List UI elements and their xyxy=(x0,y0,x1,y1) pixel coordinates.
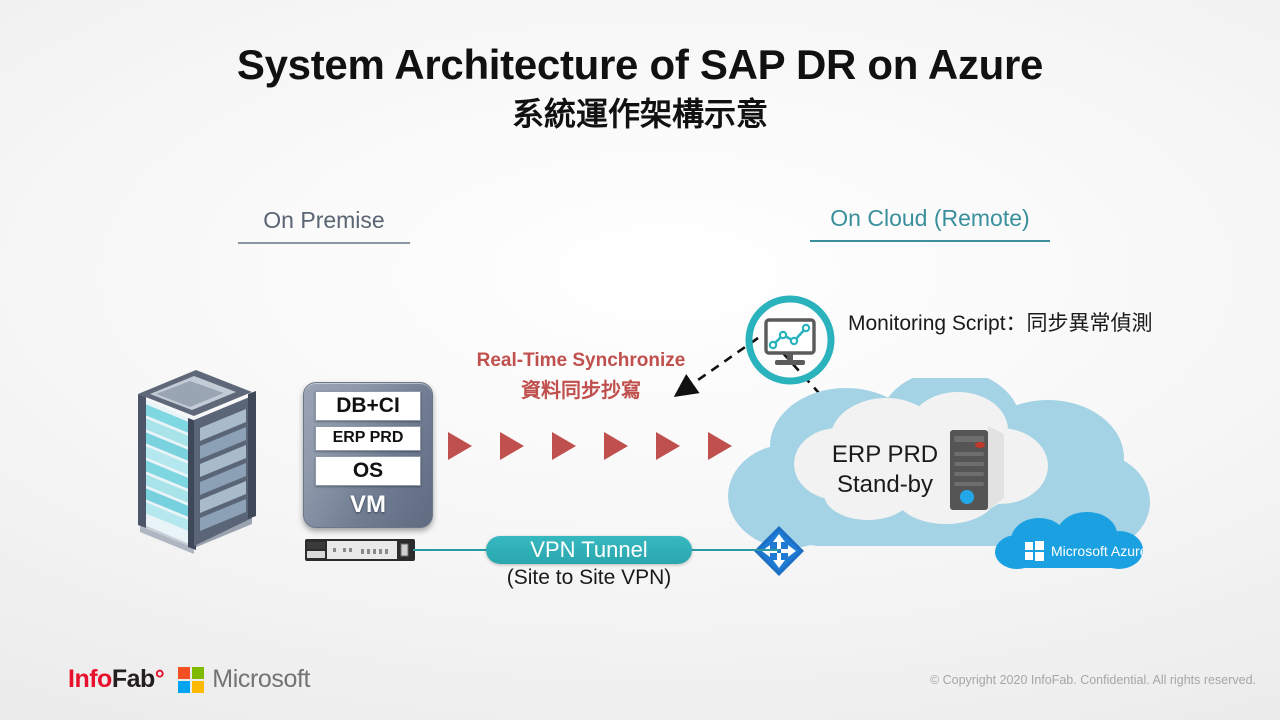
infofab-logo-dot: ° xyxy=(155,665,165,693)
monitoring-chart-icon xyxy=(742,292,838,388)
sync-arrow-triangle xyxy=(500,432,524,460)
copyright-text: © Copyright 2020 InfoFab. Confidential. … xyxy=(930,673,1256,687)
sync-arrow-triangle xyxy=(448,432,472,460)
infofab-logo-fab: Fab xyxy=(112,665,155,693)
infofab-logo-info: Info xyxy=(68,665,112,693)
page-subtitle: 系統運作架構示意 xyxy=(0,92,1280,136)
vpn-tunnel-bar: VPN Tunnel xyxy=(486,536,692,564)
microsoft-logo-icon xyxy=(178,667,204,693)
vm-box: DB+CI ERP PRD OS VM xyxy=(303,382,433,528)
network-gateway-icon xyxy=(752,524,806,578)
section-header-on-cloud: On Cloud (Remote) xyxy=(810,203,1050,242)
vm-layer-os: OS xyxy=(315,456,421,486)
infofab-logo: InfoFab° xyxy=(68,665,164,694)
section-header-on-premise: On Premise xyxy=(238,205,410,244)
vm-layer-erp-prd: ERP PRD xyxy=(315,426,421,451)
server-rack-icon xyxy=(132,358,258,558)
vm-layer-db-ci: DB+CI xyxy=(315,391,421,421)
cloud-standby-label: ERP PRD Stand-by xyxy=(820,440,950,500)
cloud-standby-line1: ERP PRD xyxy=(820,440,950,470)
server-tower-icon xyxy=(936,420,1026,516)
page-title: System Architecture of SAP DR on Azure xyxy=(0,38,1280,92)
vm-footer-label: VM xyxy=(304,491,432,519)
slide-canvas: System Architecture of SAP DR on Azure 系… xyxy=(0,0,1280,720)
firewall-appliance-icon xyxy=(305,538,415,562)
vpn-sublabel: (Site to Site VPN) xyxy=(466,566,712,590)
microsoft-wordmark: Microsoft xyxy=(212,665,310,694)
azure-badge: Microsoft Azure xyxy=(995,512,1145,574)
sync-arrow-triangle xyxy=(552,432,576,460)
footer-logos: InfoFab° Microsoft xyxy=(68,662,310,696)
cloud-standby-line2: Stand-by xyxy=(820,470,950,500)
azure-badge-label: Microsoft Azure xyxy=(1051,543,1145,559)
sync-arrow-triangle xyxy=(604,432,628,460)
monitoring-script-label: Monitoring Script：同步異常偵測 xyxy=(848,307,1153,337)
